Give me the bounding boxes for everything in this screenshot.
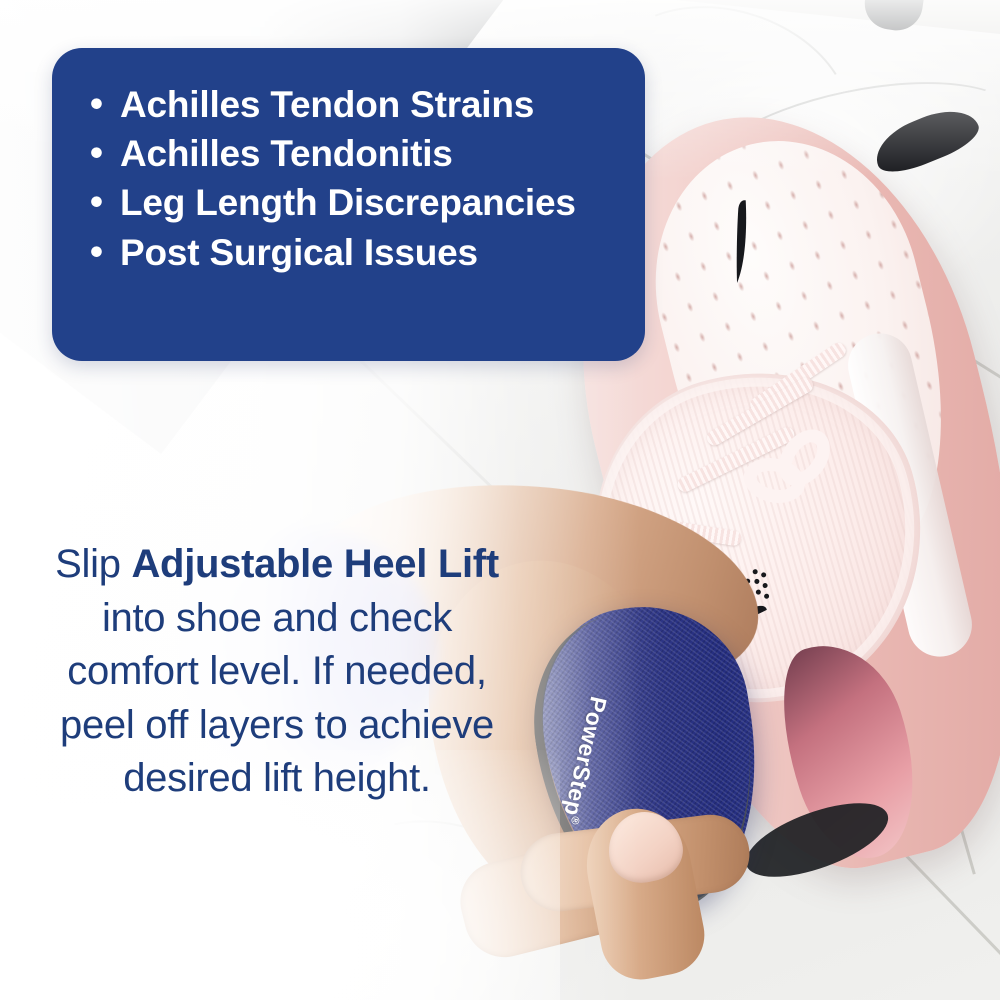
shoe-toe-tip (868, 99, 985, 180)
instruction-paragraph: Slip Adjustable Heel Lift into shoe and … (42, 538, 512, 806)
list-item: Leg Length Discrepancies (86, 182, 619, 224)
instruction-lead: Slip (55, 542, 131, 586)
list-item: Post Surgical Issues (86, 232, 619, 274)
conditions-callout-box: Achilles Tendon Strains Achilles Tendoni… (52, 48, 645, 361)
instructional-graphic: 270 (0, 0, 1000, 1000)
instruction-emphasis: Adjustable Heel Lift (131, 542, 498, 586)
conditions-bullet-list: Achilles Tendon Strains Achilles Tendoni… (52, 48, 645, 274)
instruction-remainder: into shoe and check comfort level. If ne… (60, 596, 494, 801)
list-item: Achilles Tendonitis (86, 133, 619, 175)
list-item: Achilles Tendon Strains (86, 84, 619, 126)
